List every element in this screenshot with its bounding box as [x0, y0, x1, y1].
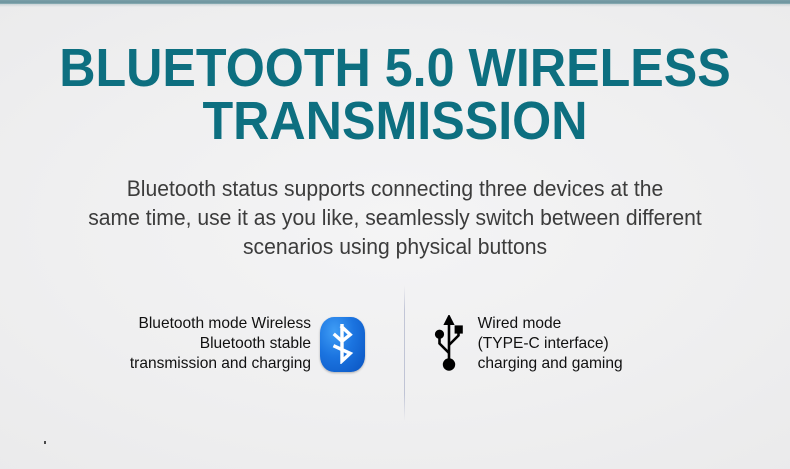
feature-wired-mode-text: Wired mode (TYPE-C interface) charging a…	[466, 314, 623, 374]
feature-bluetooth-mode-text: Bluetooth mode Wireless Bluetooth stable…	[130, 314, 320, 374]
subcopy-line-1: Bluetooth status supports connecting thr…	[50, 174, 739, 203]
top-accent-bar-shadow	[0, 4, 790, 7]
feature-wired-line-2: (TYPE-C interface)	[478, 334, 623, 354]
feature-wired-mode: Wired mode (TYPE-C interface) charging a…	[432, 314, 742, 374]
image-artifact-speck	[44, 441, 46, 444]
headline: BLUETOOTH 5.0 WIRELESS TRANSMISSION	[28, 42, 763, 148]
feature-row: Bluetooth mode Wireless Bluetooth stable…	[0, 300, 790, 410]
headline-line-2: TRANSMISSION	[28, 95, 763, 148]
headline-line-1: BLUETOOTH 5.0 WIRELESS	[28, 42, 763, 95]
usb-icon	[432, 314, 466, 374]
feature-bluetooth-mode: Bluetooth mode Wireless Bluetooth stable…	[60, 314, 365, 374]
bluetooth-icon	[320, 317, 365, 372]
feature-wired-line-3: charging and gaming	[478, 354, 623, 374]
subcopy: Bluetooth status supports connecting thr…	[50, 174, 739, 261]
feature-divider	[404, 285, 405, 421]
feature-bluetooth-line-2: Bluetooth stable	[130, 334, 311, 354]
feature-wired-line-1: Wired mode	[478, 314, 623, 334]
feature-bluetooth-line-3: transmission and charging	[130, 354, 311, 374]
feature-bluetooth-line-1: Bluetooth mode Wireless	[130, 314, 311, 334]
subcopy-line-2: same time, use it as you like, seamlessl…	[50, 203, 739, 232]
subcopy-line-3: scenarios using physical buttons	[50, 232, 739, 261]
product-feature-banner: BLUETOOTH 5.0 WIRELESS TRANSMISSION Blue…	[0, 0, 790, 469]
